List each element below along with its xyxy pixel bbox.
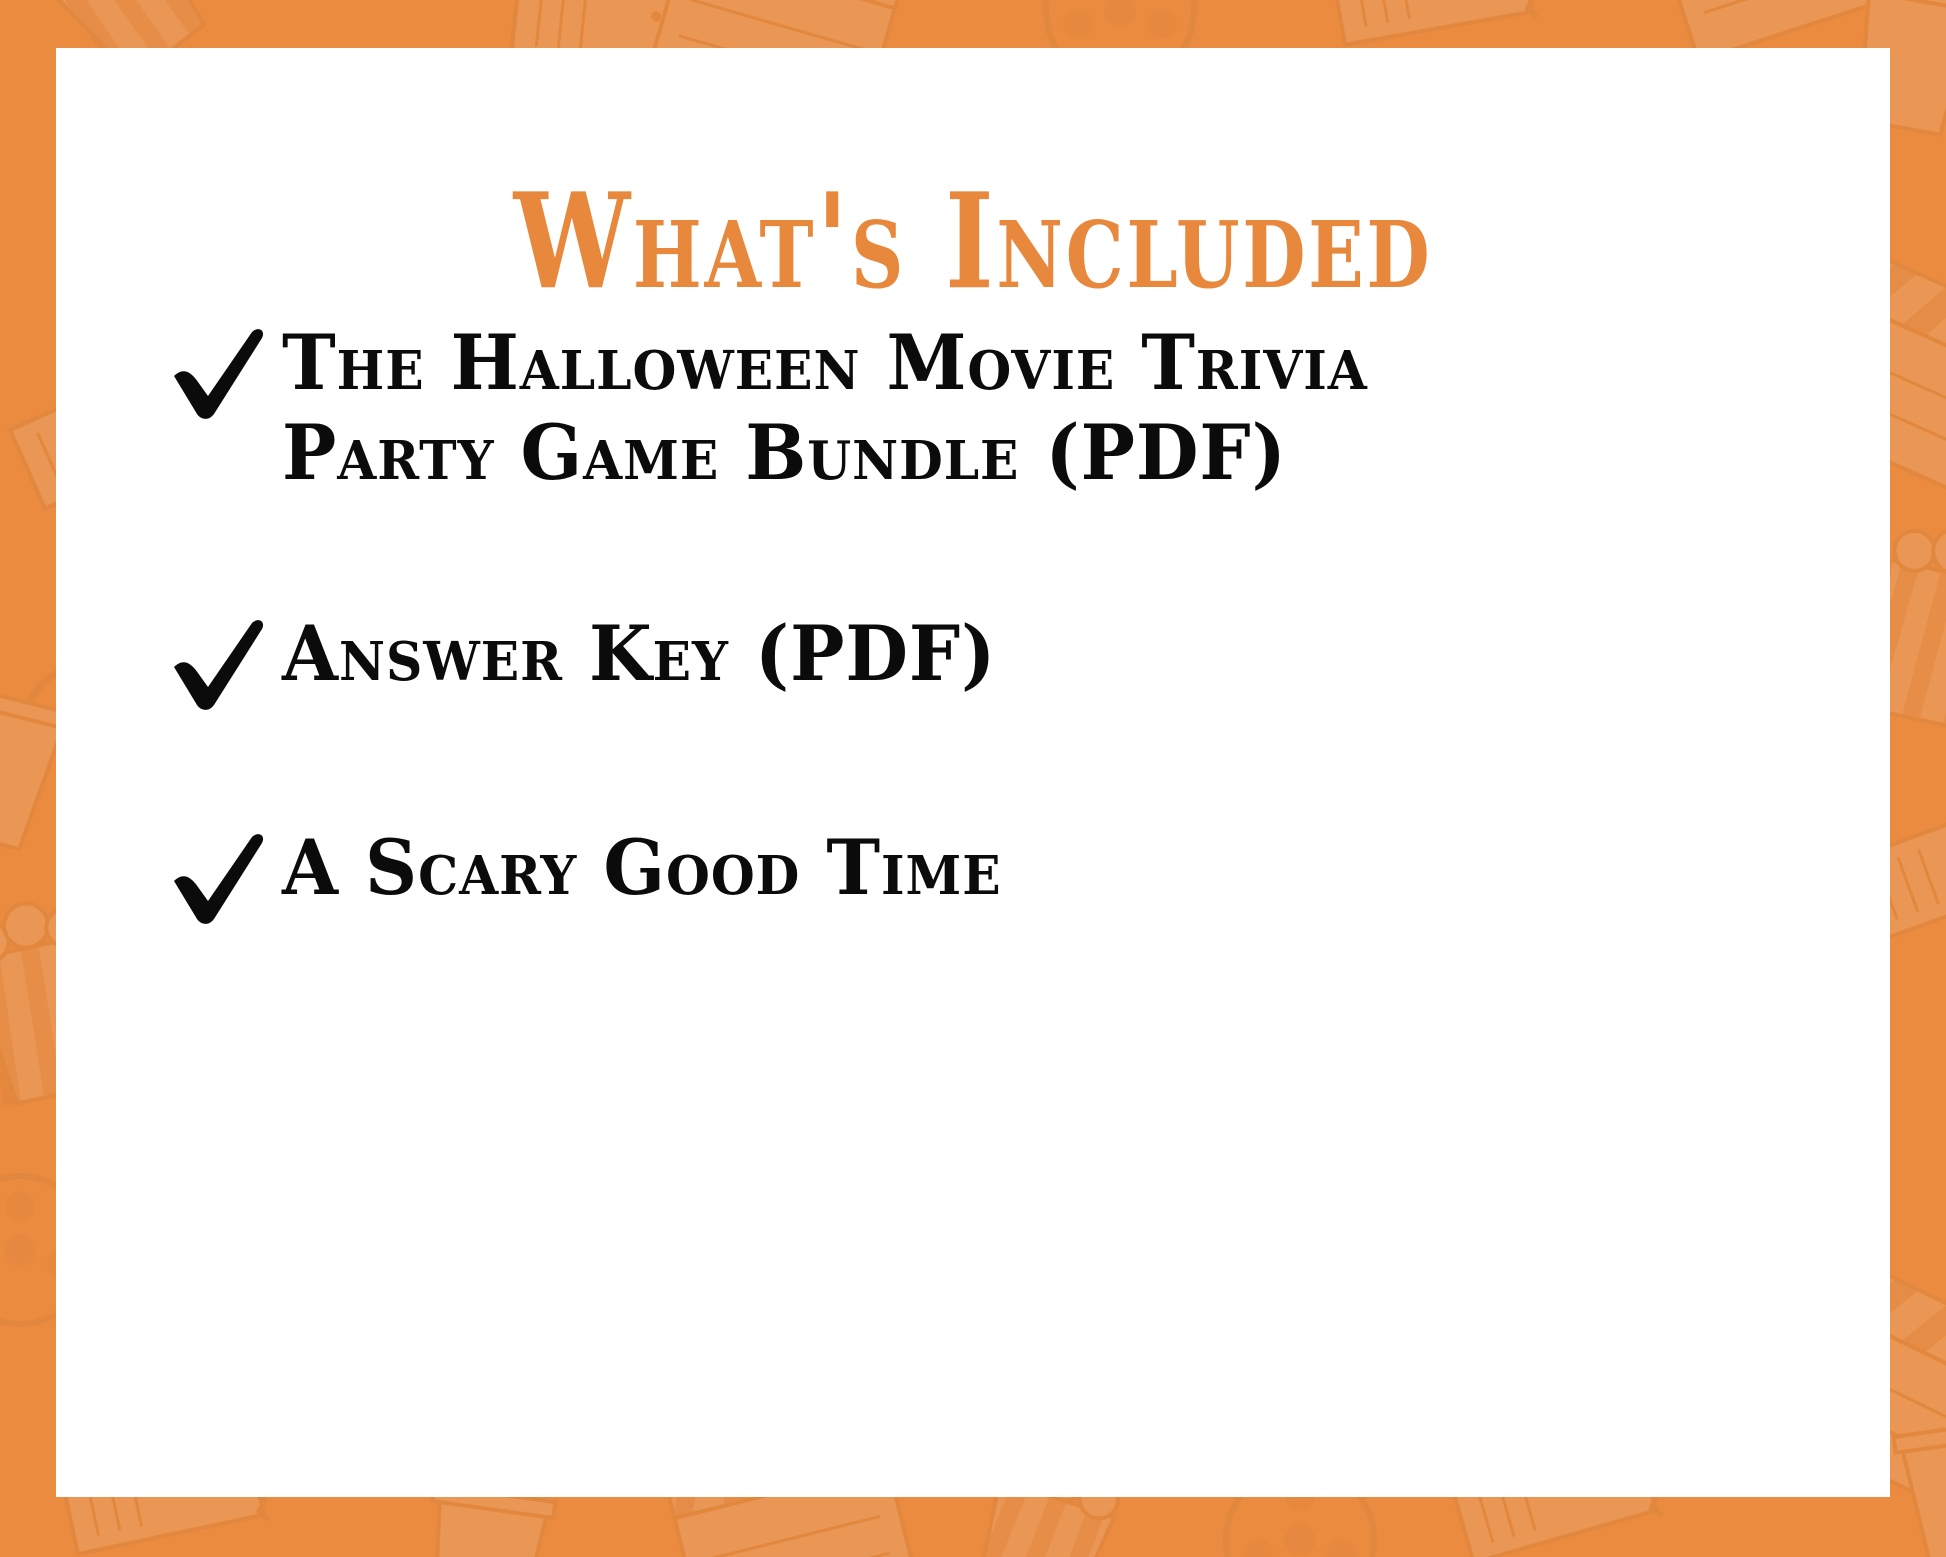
list-item-line: Party Game Bundle (PDF) <box>282 408 1368 498</box>
page-title: What's Included <box>120 177 1826 308</box>
list-item-line: Answer Key (PDF) <box>282 609 996 699</box>
checkmark-icon <box>168 615 272 711</box>
list-item: Answer Key (PDF) <box>168 609 1830 711</box>
list-item-text: The Halloween Movie Trivia Party Game Bu… <box>282 318 1368 497</box>
list-item-line: A Scary Good Time <box>282 823 1002 913</box>
checkmark-icon <box>168 324 272 420</box>
content-card: What's Included The Halloween Movie Triv… <box>56 48 1890 1497</box>
poster-canvas: What's Included The Halloween Movie Triv… <box>0 0 1946 1557</box>
list-item: A Scary Good Time <box>168 823 1830 925</box>
list-item: The Halloween Movie Trivia Party Game Bu… <box>168 318 1830 497</box>
checklist: The Halloween Movie Trivia Party Game Bu… <box>168 318 1830 925</box>
checkmark-icon <box>168 829 272 925</box>
list-item-text: A Scary Good Time <box>282 823 1002 913</box>
list-item-line: The Halloween Movie Trivia <box>282 318 1368 408</box>
list-item-text: Answer Key (PDF) <box>282 609 996 699</box>
